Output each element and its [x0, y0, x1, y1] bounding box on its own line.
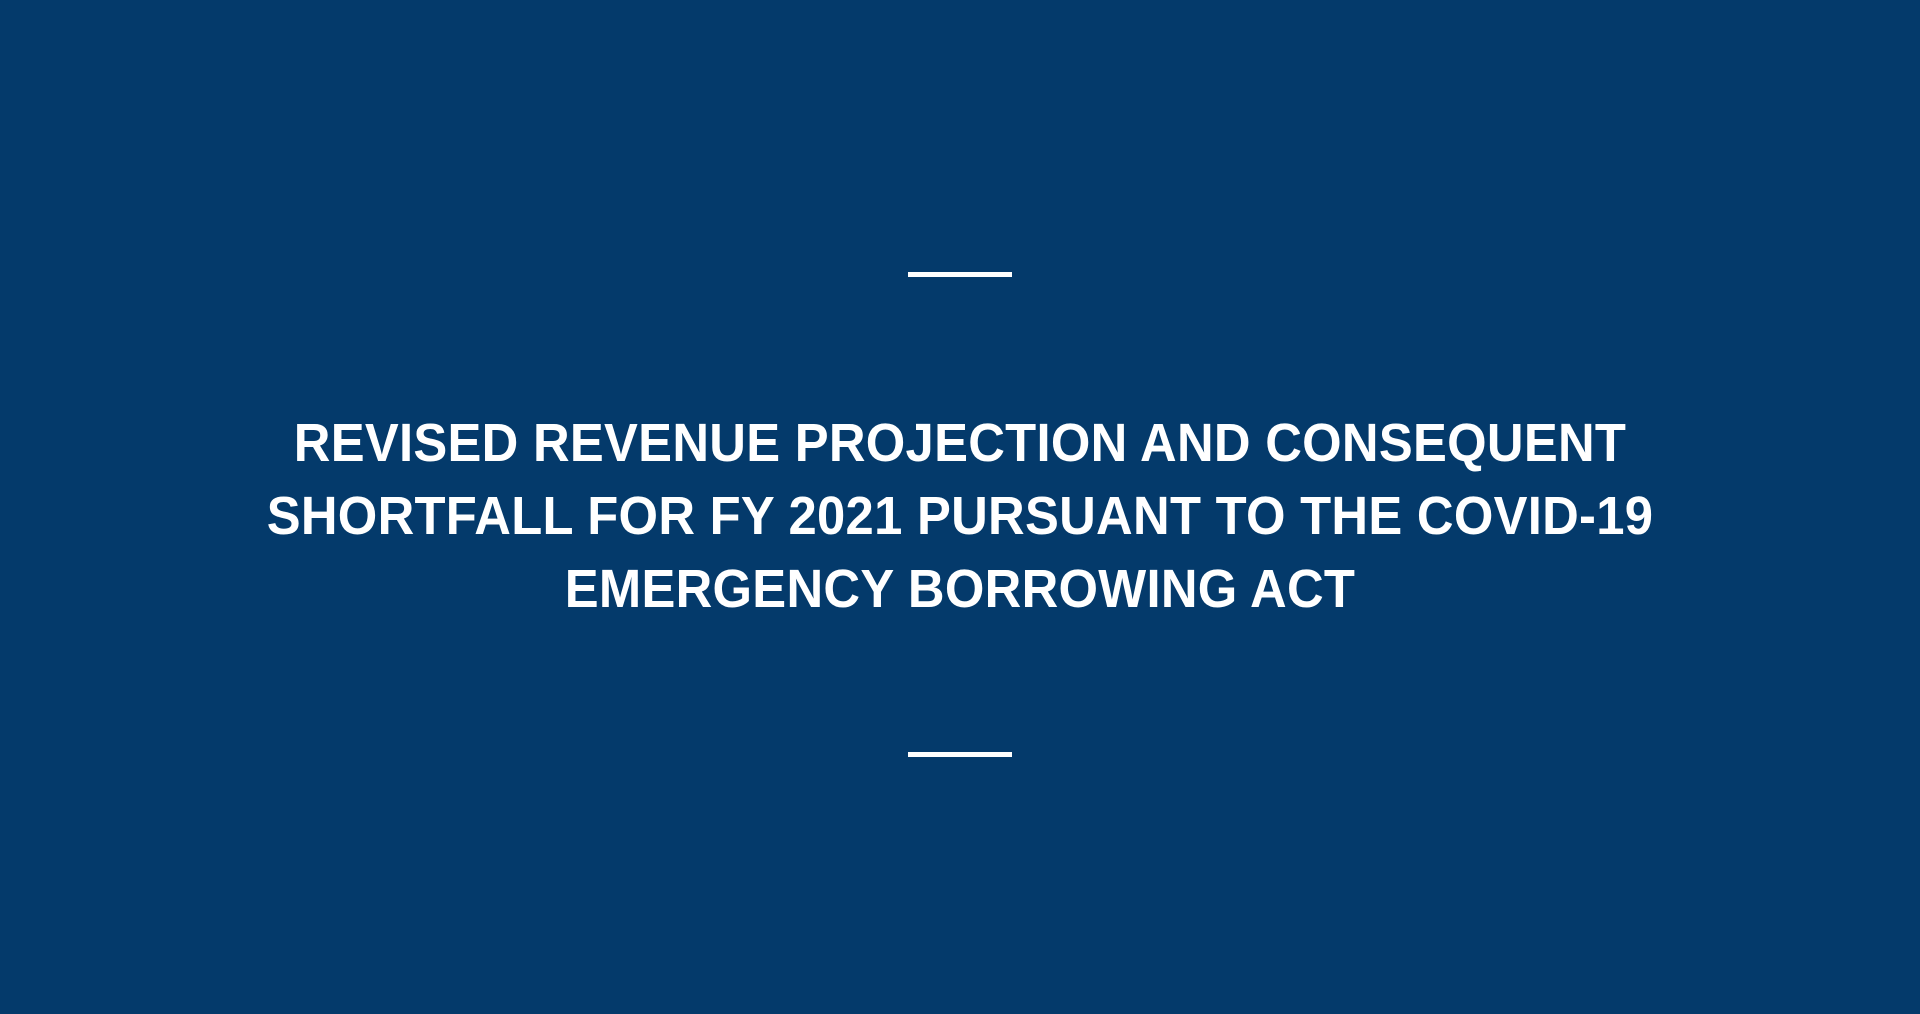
- title-block: REVISED REVENUE PROJECTION AND CONSEQUEN…: [180, 407, 1740, 626]
- title-slide: REVISED REVENUE PROJECTION AND CONSEQUEN…: [0, 0, 1920, 1014]
- divider-rule-bottom: [908, 752, 1012, 757]
- divider-rule-top: [908, 272, 1012, 277]
- page-title: REVISED REVENUE PROJECTION AND CONSEQUEN…: [227, 407, 1693, 626]
